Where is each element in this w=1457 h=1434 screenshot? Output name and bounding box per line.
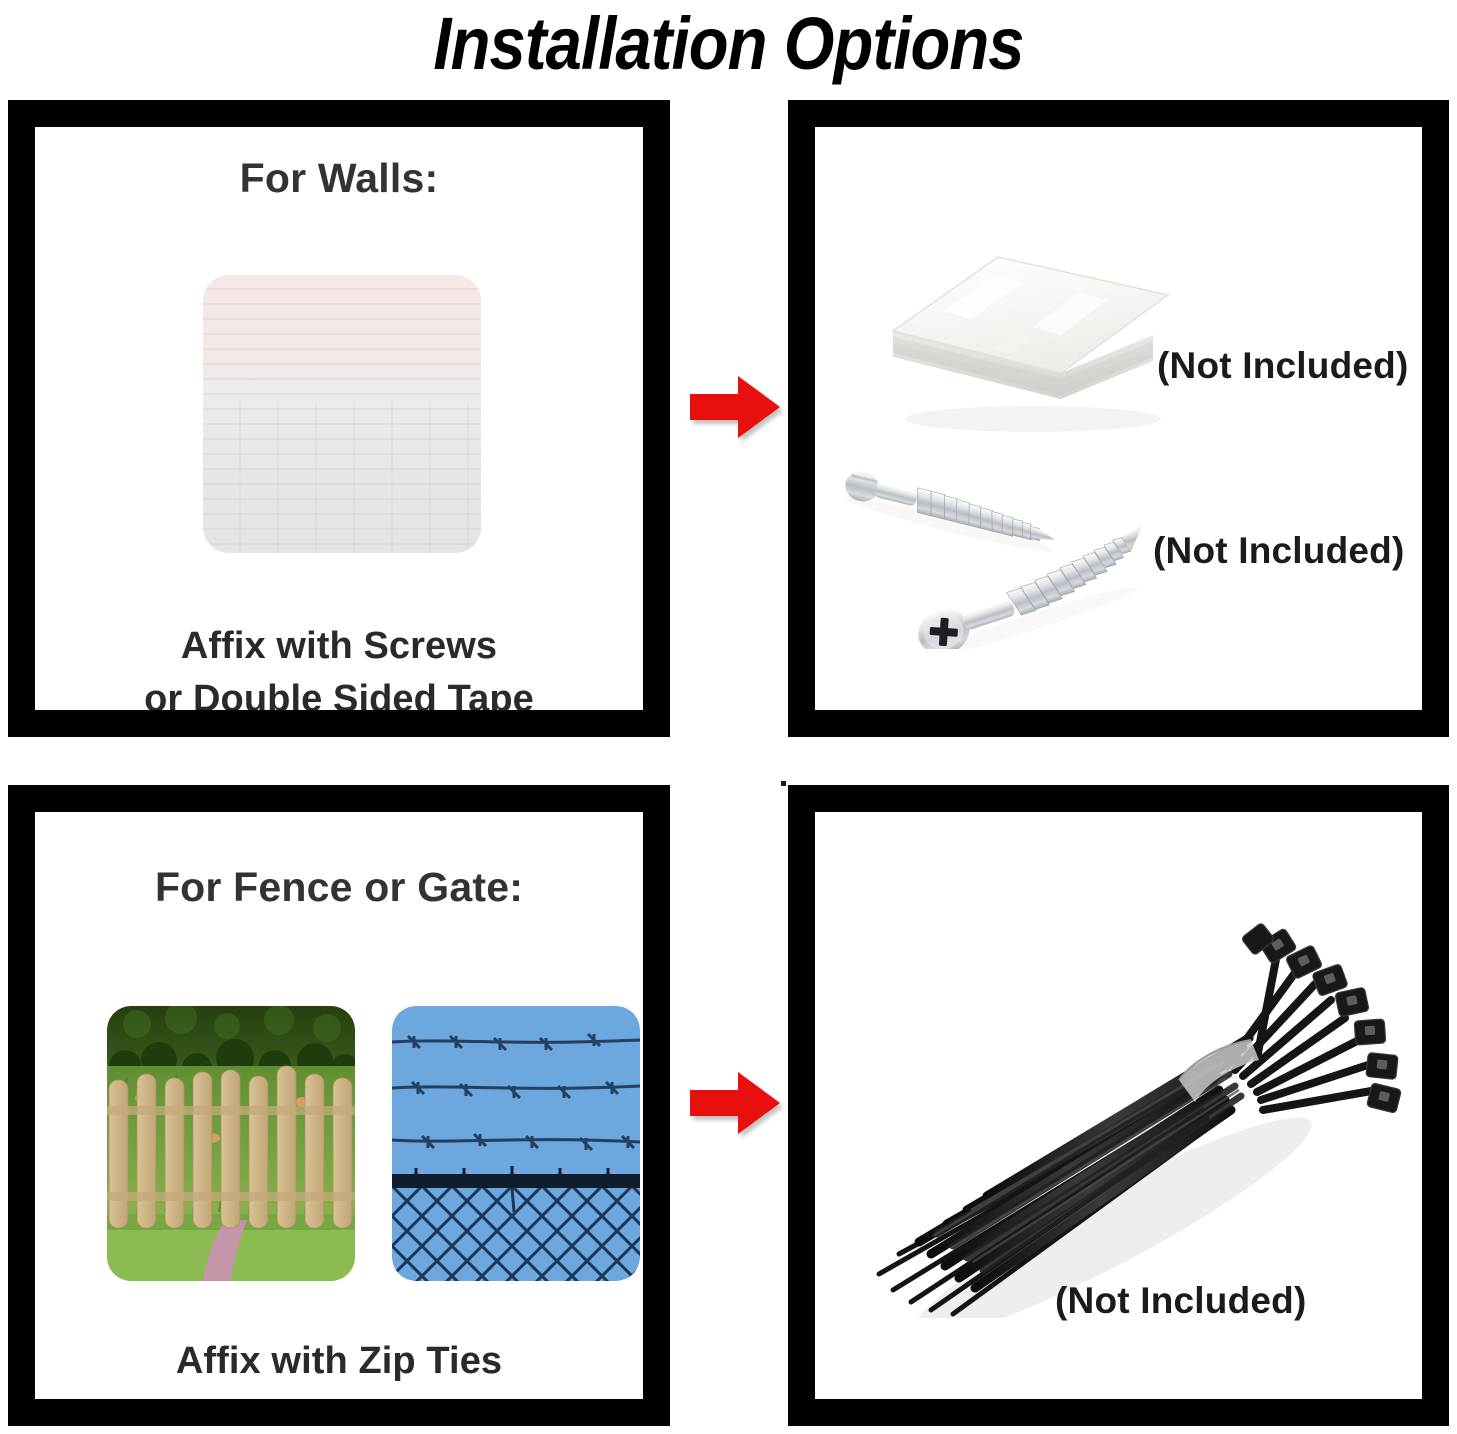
for-fence-heading: For Fence or Gate: xyxy=(35,864,643,911)
walls-caption-line-2: or Double Sided Tape xyxy=(35,673,643,710)
panel-for-fence-content: For Fence or Gate: xyxy=(35,812,643,1399)
infographic-root: Installation Options For Walls: Affix wi… xyxy=(0,0,1457,1434)
panel-for-walls-content: For Walls: Affix with Screws or Double S… xyxy=(35,127,643,710)
panel-zip-ties-content: (Not Included) xyxy=(815,812,1422,1399)
image-artifact-speck xyxy=(781,781,786,786)
panel-wall-hardware: (Not Included) xyxy=(788,100,1449,737)
screws-not-included-label: (Not Included) xyxy=(1153,530,1404,572)
for-walls-heading: For Walls: xyxy=(35,155,643,202)
chain-link-barbed-wire-fence-photo xyxy=(392,1006,640,1281)
red-right-arrow-icon xyxy=(690,1069,780,1137)
page-title: Installation Options xyxy=(87,0,1369,90)
black-zip-tie-bundle xyxy=(827,898,1407,1318)
panel-zip-ties: (Not Included) xyxy=(788,785,1449,1426)
panel-wall-hardware-content: (Not Included) xyxy=(815,127,1422,710)
silver-wood-screws xyxy=(835,449,1185,649)
fence-caption: Affix with Zip Ties xyxy=(35,1335,643,1388)
brick-vertical-joints xyxy=(203,403,481,553)
white-brick-wall-photo xyxy=(203,275,481,553)
panel-for-walls: For Walls: Affix with Screws or Double S… xyxy=(8,100,670,737)
wooden-picket-fence-photo xyxy=(107,1006,355,1281)
red-right-arrow-icon xyxy=(690,373,780,441)
walls-caption: Affix with Screws or Double Sided Tape xyxy=(35,620,643,710)
tape-not-included-label: (Not Included) xyxy=(1157,345,1408,387)
zipties-not-included-label: (Not Included) xyxy=(1055,1280,1306,1322)
walls-caption-line-1: Affix with Screws xyxy=(35,620,643,673)
double-sided-tape-stack xyxy=(883,249,1173,434)
panel-for-fence-or-gate: For Fence or Gate: xyxy=(8,785,670,1426)
